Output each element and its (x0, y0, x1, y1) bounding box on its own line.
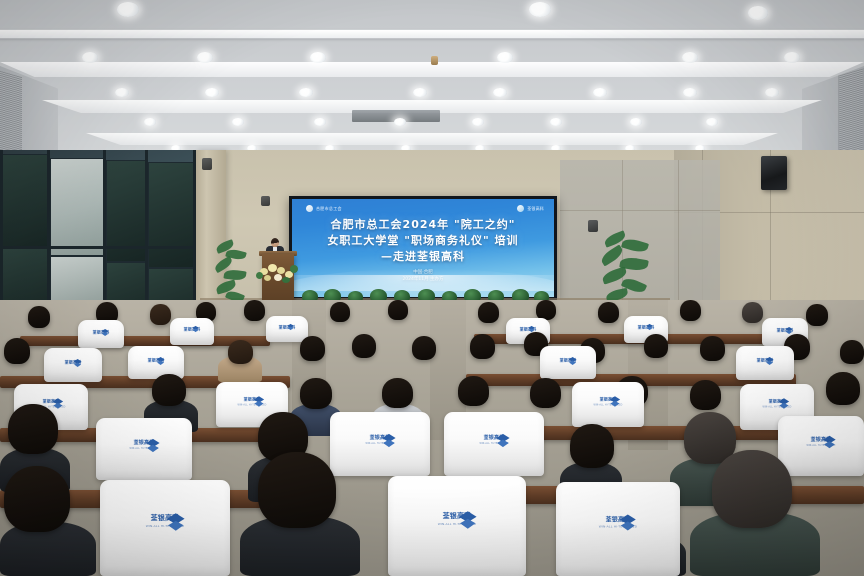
recessed-downlight (550, 118, 562, 126)
recessed-downlight (593, 88, 607, 97)
chair-logo: 荃银高科 WIN-ALL HI-TECH SEED (479, 433, 508, 445)
wheat-emblem-icon (517, 205, 524, 212)
chair-logo: 荃银高科 (757, 357, 774, 364)
seated-attendee (152, 374, 186, 406)
seated-attendee (28, 306, 50, 328)
slide-subtitle: 中国·合肥 2024年11月 主办方 (292, 269, 554, 283)
recessed-downlight (299, 88, 313, 97)
chair-logo: 荃银高科 (184, 326, 201, 333)
chair-logo: 荃银高科 (279, 323, 296, 330)
slide-logo-left: 合肥市总工会 (306, 205, 342, 212)
chair-with-cover[interactable]: 荃银高科 (78, 320, 124, 348)
seated-attendee (258, 452, 336, 528)
seated-attendee (458, 376, 489, 406)
ceiling-beam (86, 133, 778, 145)
seated-attendee (742, 302, 763, 323)
slide-logo-left-text: 合肥市总工会 (316, 206, 342, 212)
chair-with-cover[interactable]: 荃银高科 (266, 316, 308, 342)
chair-logo: 荃银高科 WIN-ALL HI-TECH SEED (146, 512, 184, 528)
seated-attendee (644, 334, 668, 358)
wall-mounted-speaker (761, 156, 787, 190)
recessed-downlight (314, 118, 326, 126)
recessed-downlight (765, 88, 779, 97)
recessed-downlight (197, 52, 213, 63)
seated-attendee (690, 380, 721, 410)
projection-screen[interactable]: 合肥市总工会 荃银高科 合肥市总工会2024年 "院工之约" 女职工大学堂 "职… (289, 196, 557, 300)
seated-attendee (806, 304, 828, 326)
seated-attendee (8, 404, 58, 454)
wall-mounted-speaker (202, 158, 212, 170)
chair-with-cover[interactable]: 荃银高科 WIN-ALL HI-TECH SEED (100, 480, 230, 576)
seated-attendee (826, 372, 860, 405)
chair-logo: 荃银高科 (148, 356, 165, 363)
chair-with-cover[interactable]: 荃银高科 WIN-ALL HI-TECH SEED (572, 382, 644, 427)
seated-attendee (598, 302, 619, 323)
seated-attendee (300, 336, 325, 361)
seated-attendee (228, 340, 253, 364)
seated-attendee (150, 304, 171, 325)
seated-attendee (478, 302, 499, 323)
recessed-downlight (497, 52, 513, 63)
seated-attendee (712, 450, 792, 528)
seated-attendee (470, 334, 495, 359)
chair-with-cover[interactable]: 荃银高科 (736, 346, 794, 380)
wall-mounted-speaker (588, 220, 598, 232)
recessed-downlight (682, 52, 698, 63)
slide-subtitle-line2: 2024年11月 主办方 (292, 276, 554, 283)
chair-with-cover[interactable]: 荃银高科 WIN-ALL HI-TECH SEED (778, 416, 864, 476)
slide-title-line3: —走进荃银高科 (292, 249, 554, 265)
seated-attendee (382, 378, 413, 408)
chair-with-cover[interactable]: 荃银高科 WIN-ALL HI-TECH SEED (444, 412, 544, 476)
chair-logo: 荃银高科 (65, 359, 82, 366)
union-emblem-icon (306, 205, 313, 212)
slide-logo-right: 荃银高科 (517, 205, 544, 212)
recessed-downlight (232, 118, 244, 126)
recessed-downlight (630, 118, 642, 126)
seated-attendee (300, 378, 332, 409)
seated-attendee (700, 336, 725, 361)
seated-attendee (4, 338, 30, 364)
presenter-head (271, 238, 279, 247)
recessed-downlight (117, 2, 139, 17)
conference-hall-photo: 合肥市总工会 荃银高科 合肥市总工会2024年 "院工之约" 女职工大学堂 "职… (0, 0, 864, 576)
chair-with-cover[interactable]: 荃银高科 WIN-ALL HI-TECH SEED (96, 418, 192, 480)
ceiling-beam (0, 30, 864, 38)
seated-attendee (570, 424, 614, 468)
slide-title-line1: 合肥市总工会2024年 "院工之约" (292, 217, 554, 233)
audience-seating: 荃银高科 荃银高科 荃银高科 (0, 300, 864, 576)
seated-attendee (244, 300, 265, 321)
chair-logo: 荃银高科 WIN-ALL HI-TECH SEED (438, 510, 476, 526)
chair-logo: 荃银高科 WIN-ALL HI-TECH SEED (129, 438, 158, 450)
seated-attendee (330, 302, 350, 322)
recessed-downlight (394, 118, 406, 126)
chair-logo: 荃银高科 WIN-ALL HI-TECH SEED (599, 514, 637, 529)
slide-subtitle-line1: 中国·合肥 (292, 269, 554, 276)
recessed-downlight (310, 52, 326, 63)
chair-logo: 荃银高科 WIN-ALL HI-TECH SEED (365, 433, 394, 445)
projected-slide: 合肥市总工会 荃银高科 合肥市总工会2024年 "院工之约" 女职工大学堂 "职… (292, 199, 554, 297)
recessed-downlight (472, 118, 484, 126)
recessed-downlight (529, 2, 551, 17)
chair-logo: 荃银高科 (777, 326, 794, 333)
recessed-downlight (144, 118, 156, 126)
seated-attendee (530, 378, 561, 408)
chair-with-cover[interactable]: 荃银高科 (540, 346, 596, 379)
recessed-downlight (784, 52, 800, 63)
seated-attendee (352, 334, 376, 358)
chair-with-cover[interactable]: 荃银高科 WIN-ALL HI-TECH SEED (388, 476, 526, 576)
chair-with-cover[interactable]: 荃银高科 WIN-ALL HI-TECH SEED (330, 412, 430, 476)
recessed-downlight (413, 88, 427, 97)
chair-with-cover[interactable]: 荃银高科 (44, 348, 102, 382)
recessed-downlight (706, 118, 718, 126)
recessed-downlight (205, 88, 219, 97)
seated-attendee (4, 466, 70, 532)
seated-attendee (412, 336, 436, 360)
chair-logo: 荃银高科 (93, 328, 110, 335)
seated-attendee (840, 340, 864, 364)
slide-logo-right-text: 荃银高科 (527, 206, 544, 212)
chair-logo: 荃银高科 (638, 324, 655, 331)
seated-attendee (388, 300, 408, 320)
recessed-downlight (493, 88, 507, 97)
flower-arrangement (256, 262, 300, 284)
recessed-downlight (683, 88, 697, 97)
sprinkler-head-icon (431, 56, 438, 65)
recessed-downlight (82, 52, 98, 63)
wall-mounted-speaker (261, 196, 270, 206)
seated-attendee (680, 300, 701, 321)
chair-logo: 荃银高科 (560, 356, 577, 363)
chair-logo: 荃银高科 WIN-ALL HI-TECH SEED (237, 395, 266, 406)
recessed-downlight (748, 6, 768, 20)
chair-logo: 荃银高科 WIN-ALL HI-TECH SEED (593, 395, 622, 406)
seated-attendee (536, 300, 556, 320)
chair-with-cover[interactable]: 荃银高科 (170, 318, 214, 345)
chair-logo: 荃银高科 WIN-ALL HI-TECH SEED (806, 435, 835, 447)
slide-title: 合肥市总工会2024年 "院工之约" 女职工大学堂 "职场商务礼仪" 培训 —走… (292, 217, 554, 265)
slide-title-line2: 女职工大学堂 "职场商务礼仪" 培训 (292, 233, 554, 249)
chair-logo: 荃银高科 WIN-ALL HI-TECH SEED (762, 398, 791, 409)
recessed-downlight (115, 88, 129, 97)
chair-with-cover[interactable]: 荃银高科 WIN-ALL HI-TECH SEED (556, 482, 680, 576)
